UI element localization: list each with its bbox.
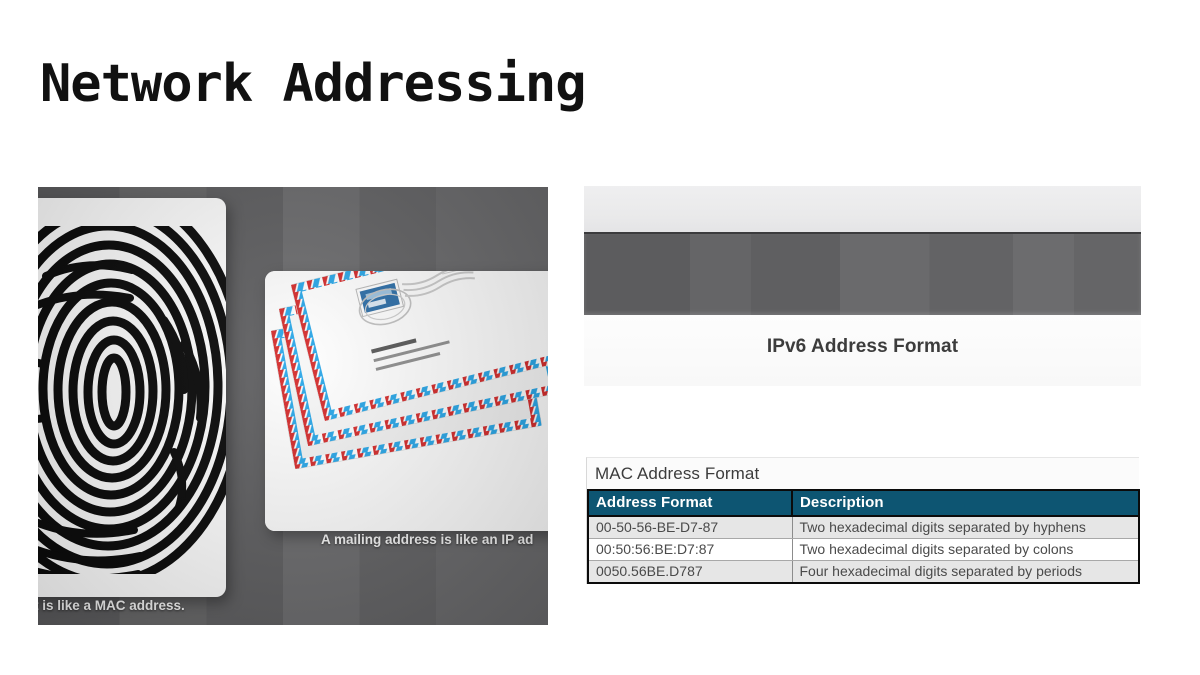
mac-table-title: MAC Address Format	[587, 458, 1139, 489]
ipv6-figure-dark-band	[584, 232, 1141, 315]
table-row: 00-50-56-BE-D7-87 Two hexadecimal digits…	[588, 516, 1139, 539]
cell-address-format: 0050.56BE.D787	[588, 561, 792, 584]
table-row: 00:50:56:BE:D7:87 Two hexadecimal digits…	[588, 539, 1139, 561]
table-row: 0050.56BE.D787 Four hexadecimal digits s…	[588, 561, 1139, 584]
address-analogy-photo-slide: t is like a MAC address. A mailing addre…	[38, 187, 548, 625]
column-header-address-format: Address Format	[588, 490, 792, 516]
slide-canvas: Network Addressing	[0, 0, 1200, 675]
mac-address-format-figure: MAC Address Format Address Format Descri…	[586, 457, 1139, 584]
cell-address-format: 00:50:56:BE:D7:87	[588, 539, 792, 561]
ipv6-figure-caption: IPv6 Address Format	[584, 336, 1141, 358]
table-header-row: Address Format Description	[588, 490, 1139, 516]
mac-address-format-table: Address Format Description 00-50-56-BE-D…	[587, 489, 1140, 584]
page-title: Network Addressing	[40, 56, 586, 113]
cell-address-format: 00-50-56-BE-D7-87	[588, 516, 792, 539]
cell-description: Four hexadecimal digits separated by per…	[792, 561, 1139, 584]
ipv6-figure-top-band	[584, 186, 1141, 232]
photo-slide-vignette	[38, 187, 548, 625]
ipv6-address-format-figure: IPv6 Address Format	[584, 186, 1141, 386]
column-header-description: Description	[792, 490, 1139, 516]
cell-description: Two hexadecimal digits separated by hyph…	[792, 516, 1139, 539]
cell-description: Two hexadecimal digits separated by colo…	[792, 539, 1139, 561]
